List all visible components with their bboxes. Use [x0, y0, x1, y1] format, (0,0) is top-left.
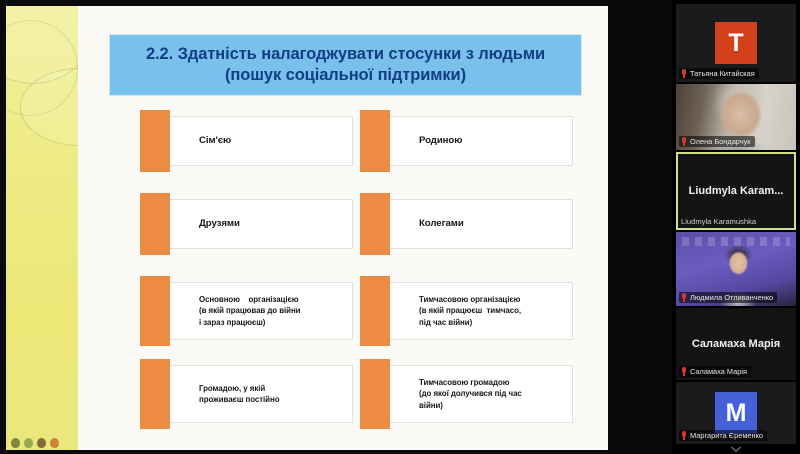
statement-panel: Сім'єю	[162, 116, 353, 166]
dot-brown-icon	[37, 438, 46, 448]
participant-tile[interactable]: Liudmyla Karam...Liudmyla Karamushka	[676, 152, 796, 230]
mic-muted-icon	[681, 137, 687, 146]
statement-text: Громадою, у якійпроживаєш постійно	[163, 383, 285, 406]
statement-line: війни)	[419, 400, 522, 411]
participant-tile[interactable]: TТатьяна Китайская	[676, 4, 796, 82]
statement-text: Основною організацією(в якій працював до…	[163, 294, 306, 328]
right-column: РодиноюКолегамиТимчасовою організацією(в…	[360, 110, 573, 440]
statement-text: Тимчасовою громадою(до якої долучився пі…	[383, 377, 528, 411]
statement-line: під час війни)	[419, 317, 521, 328]
participant-name-bar: Маргарита Єременко	[679, 430, 767, 441]
participant-name-bar: Людмила Отливанченко	[679, 292, 777, 303]
slide-decorative-band	[6, 6, 78, 450]
participant-tile-list: TТатьяна КитайскаяОлена БондарчукLiudmyl…	[676, 4, 796, 444]
participant-name-label: Людмила Отливанченко	[690, 293, 773, 302]
statement-panel: Громадою, у якійпроживаєш постійно	[162, 365, 353, 423]
dot-olive-icon	[11, 438, 20, 448]
participant-display-name: Саламаха Марія	[688, 338, 784, 350]
participant-name-label: Татьяна Китайская	[690, 69, 755, 78]
page-title: 2.2. Здатність налагоджувати стосунки з …	[126, 44, 565, 85]
participant-tile[interactable]: Саламаха МаріяСаламаха Марія	[676, 308, 796, 380]
presentation-slide: 2.2. Здатність налагоджувати стосунки з …	[6, 6, 608, 450]
statement-panel: Колегами	[382, 199, 573, 249]
statement-line: Тимчасовою організацією	[419, 294, 521, 305]
screen-share-meeting-window: 2.2. Здатність налагоджувати стосунки з …	[0, 0, 800, 454]
statement-line: Громадою, у якій	[199, 383, 279, 394]
statement-panel: Основною організацією(в якій працював до…	[162, 282, 353, 340]
statement-text: Друзями	[163, 217, 246, 231]
participant-name-bar: Татьяна Китайская	[679, 68, 759, 79]
statement-text: Сім'єю	[163, 134, 237, 148]
statement-panel: Тимчасовою громадою(до якої долучився пі…	[382, 365, 573, 423]
statement-line: (до якої долучився під час	[419, 388, 522, 399]
slide-title-banner: 2.2. Здатність налагоджувати стосунки з …	[109, 34, 582, 96]
statement-line: Родиною	[419, 134, 462, 148]
statement-line: (в якій працюєш тимчасо,	[419, 305, 521, 316]
shared-screen-area[interactable]: 2.2. Здатність налагоджувати стосунки з …	[0, 0, 672, 454]
participant-filmstrip[interactable]: TТатьяна КитайскаяОлена БондарчукLiudmyl…	[672, 0, 800, 454]
band-dot-cluster	[11, 438, 59, 448]
statement-panel: Друзями	[162, 199, 353, 249]
statement-text: Колегами	[383, 217, 470, 231]
mic-muted-icon	[681, 431, 687, 440]
statement-line: Основною організацією	[199, 294, 300, 305]
statement-panel: Тимчасовою організацією(в якій працюєш т…	[382, 282, 573, 340]
participant-tile[interactable]: Людмила Отливанченко	[676, 232, 796, 306]
avatar: M	[715, 392, 757, 434]
statement-text: Родиною	[383, 134, 468, 148]
participant-name-bar: Liudmyla Karamushka	[679, 216, 760, 227]
participant-name-bar: Саламаха Марія	[679, 366, 751, 377]
participant-tile[interactable]: MМаргарита Єременко	[676, 382, 796, 444]
statement-text: Тимчасовою організацією(в якій працюєш т…	[383, 294, 527, 328]
statement-line: Тимчасовою громадою	[419, 377, 522, 388]
mic-muted-icon	[681, 367, 687, 376]
statement-line: Сім'єю	[199, 134, 231, 148]
participant-name-label: Саламаха Марія	[690, 367, 747, 376]
statement-line: Колегами	[419, 217, 464, 231]
participant-name-label: Олена Бондарчук	[690, 137, 751, 146]
slide-content-grid: Сім'єюДрузямиОсновною організацією(в які…	[109, 110, 582, 440]
participant-display-name: Liudmyla Karam...	[685, 185, 788, 197]
participant-tile[interactable]: Олена Бондарчук	[676, 84, 796, 150]
participant-name-label: Liudmyla Karamushka	[681, 217, 756, 226]
participant-name-label: Маргарита Єременко	[690, 431, 763, 440]
chevron-down-icon[interactable]	[731, 446, 742, 453]
statement-line: і зараз працюєш)	[199, 317, 300, 328]
statement-line: (в якій працював до війни	[199, 305, 300, 316]
statement-line: Друзями	[199, 217, 240, 231]
dot-green-icon	[24, 438, 33, 448]
statement-panel: Родиною	[382, 116, 573, 166]
avatar: T	[715, 22, 757, 64]
statement-line: проживаєш постійно	[199, 394, 279, 405]
participant-name-bar: Олена Бондарчук	[679, 136, 755, 147]
mic-muted-icon	[681, 69, 687, 78]
mic-muted-icon	[681, 293, 687, 302]
left-column: Сім'єюДрузямиОсновною організацією(в які…	[140, 110, 353, 440]
dot-orange-icon	[50, 438, 59, 448]
